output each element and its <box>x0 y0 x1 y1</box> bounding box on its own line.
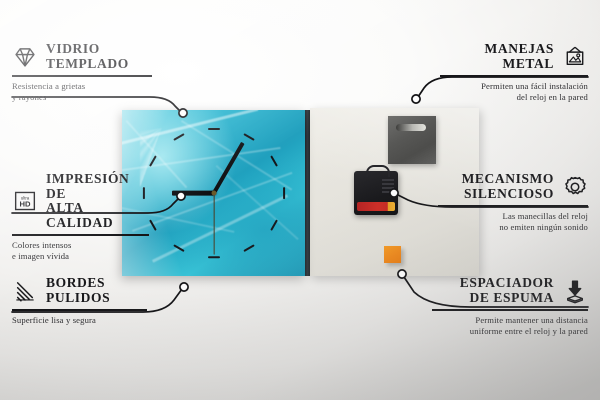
clock-tick <box>270 155 278 166</box>
metal-hanger-plate <box>388 116 436 164</box>
picture-hanger-icon <box>562 44 588 70</box>
clock-hand <box>213 193 214 255</box>
feature-title: BORDES PULIDOS <box>46 276 110 305</box>
hanger-keyhole-slot <box>396 124 426 131</box>
infographic-canvas: VIDRIO TEMPLADO Resistencia a grietas y … <box>0 0 600 400</box>
feature-title: VIDRIO TEMPLADO <box>46 42 129 71</box>
clock-face <box>122 110 305 276</box>
feature-subtitle: Resistencia a grietas y rayones <box>12 81 152 103</box>
feature-subtitle: Permiten una fácil instalación del reloj… <box>440 81 588 103</box>
divider <box>12 75 152 77</box>
feature-subtitle: Las manecillas del reloj no emiten ningú… <box>438 211 588 233</box>
product-image <box>122 108 479 278</box>
clock-tick <box>208 128 220 130</box>
divider <box>12 309 147 311</box>
feature-bordes-pulidos: BORDES PULIDOS Superficie lisa y segura <box>12 276 147 326</box>
divider <box>432 309 588 311</box>
svg-text:HD: HD <box>19 200 31 209</box>
polished-edges-icon <box>12 278 38 304</box>
foam-spacer <box>384 246 401 263</box>
feature-title: IMPRESIÓN DE ALTA CALIDAD <box>46 172 149 230</box>
feature-espaciador-espuma: ESPACIADOR DE ESPUMA Permite mantener un… <box>432 276 588 337</box>
mechanism-hanger-loop <box>366 165 390 177</box>
divider <box>12 234 149 236</box>
feature-subtitle: Permite mantener una distancia uniforme … <box>432 315 588 337</box>
feature-title: MANEJAS METAL <box>485 42 554 71</box>
gear-icon <box>562 174 588 200</box>
foam-spacer-icon <box>562 278 588 304</box>
connector-dot-4 <box>412 95 420 103</box>
clock-tick <box>243 244 254 252</box>
ultra-hd-badge-icon: ultra HD <box>12 188 38 214</box>
feature-impresion-alta-calidad: ultra HD IMPRESIÓN DE ALTA CALIDAD Color… <box>12 172 149 262</box>
clock-tick <box>270 219 278 230</box>
feature-subtitle: Superficie lisa y segura <box>12 315 147 326</box>
battery <box>357 202 395 211</box>
feature-subtitle: Colores intensos e imagen vívida <box>12 240 149 262</box>
feature-mecanismo-silencioso: MECANISMO SILENCIOSO Las manecillas del … <box>438 172 588 233</box>
clock-tick <box>282 187 284 199</box>
connector-dot-3 <box>180 283 188 291</box>
diamond-icon <box>12 44 38 70</box>
mechanism-detail <box>382 179 394 193</box>
feature-title: ESPACIADOR DE ESPUMA <box>460 276 554 305</box>
clock-hub <box>211 191 216 196</box>
divider <box>438 205 588 207</box>
feature-title: MECANISMO SILENCIOSO <box>462 172 554 201</box>
divider <box>440 75 588 77</box>
feature-vidrio-templado: VIDRIO TEMPLADO Resistencia a grietas y … <box>12 42 152 103</box>
clock-mechanism-box <box>354 171 398 215</box>
clock-tick <box>208 256 220 258</box>
feature-manejas-metal: MANEJAS METAL Permiten una fácil instala… <box>440 42 588 103</box>
clock-hand <box>172 191 214 196</box>
